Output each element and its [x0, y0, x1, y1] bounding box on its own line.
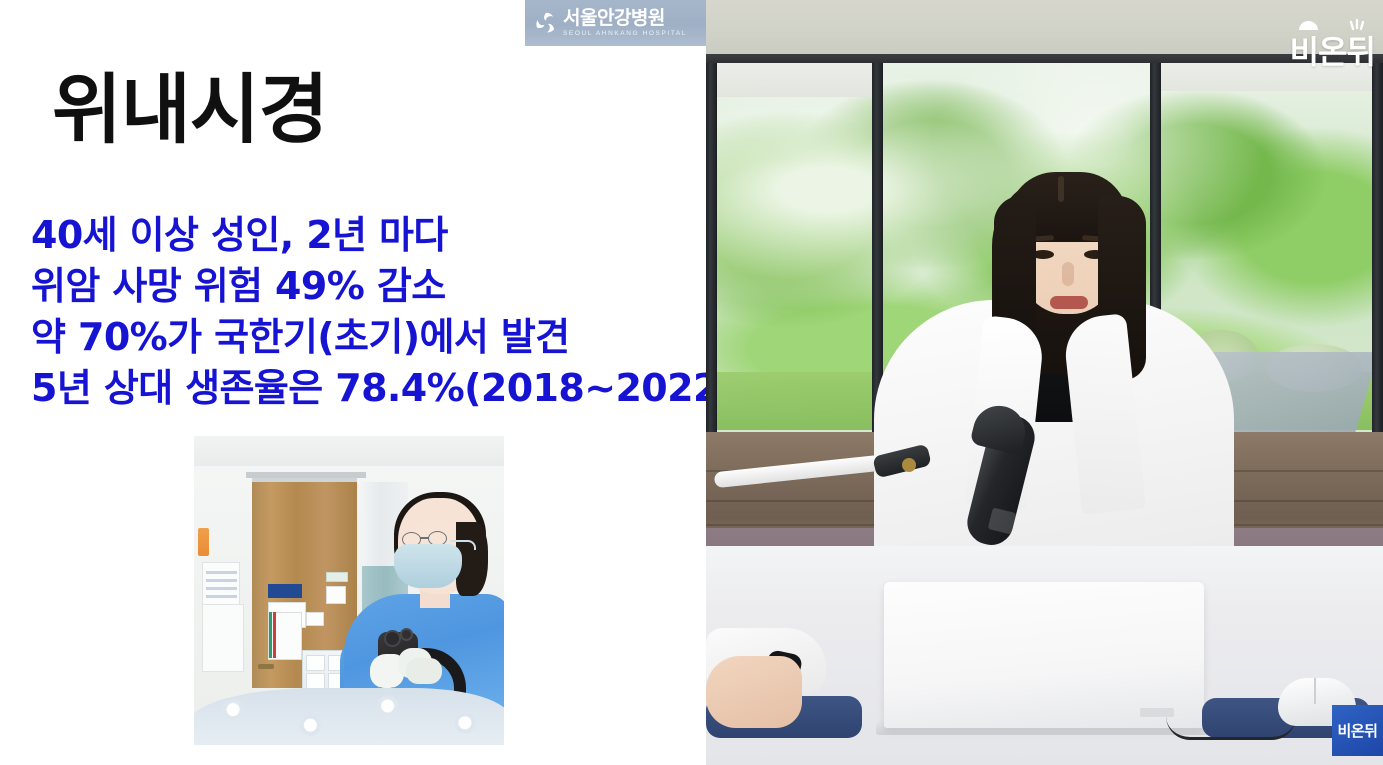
photo-small-sign-2: [326, 586, 346, 604]
video-ceiling: [706, 0, 1383, 58]
video-nose: [1062, 262, 1074, 286]
video-cable: [1166, 716, 1296, 740]
video-mouse-right-seam: [1314, 678, 1316, 704]
hospital-name-kr: 서울안강병원: [563, 9, 687, 28]
bullet-line-4: 5년 상대 생존율은 78.4%(2018~2022년): [31, 363, 691, 414]
video-window-frosted-panel-left: [706, 61, 872, 97]
photo-wall-tag: [198, 528, 209, 556]
hospital-name-en: SEOUL AHNKANG HOSPITAL: [563, 31, 687, 38]
photo-mask-strap: [450, 540, 476, 550]
photo-small-sign-3: [306, 612, 324, 626]
photo-glasses-bridge: [420, 537, 429, 539]
video-mic-thumbscrew: [902, 458, 916, 472]
slide-title: 위내시경: [52, 72, 328, 148]
hospital-logo-banner: 서울안강병원 SEOUL AHNKANG HOSPITAL: [525, 0, 706, 46]
photo-blue-sign: [268, 584, 302, 598]
slide-video-composite: 서울안강병원 SEOUL AHNKANG HOSPITAL 위내시경 40세 이…: [0, 0, 1383, 765]
endoscopy-room-photo: [194, 436, 504, 745]
video-usb-connector: [1140, 708, 1174, 717]
bullet-line-2: 위암 사망 위험 49% 감소: [31, 261, 691, 312]
bullet-line-1: 40세 이상 성인, 2년 마다: [31, 210, 691, 261]
photo-small-sign-1: [326, 572, 348, 582]
photo-endoscope-knob-small: [400, 628, 413, 641]
photo-notice-red-bar: [273, 612, 276, 658]
speaker-video-feed: 비온뒤: [706, 0, 1383, 765]
video-window-frosted-panel-right: [1161, 61, 1372, 91]
photo-notice-green-bar: [269, 612, 272, 658]
photo-endoscope-knob-large: [384, 630, 401, 647]
photo-patient-bed-blanket: [194, 688, 504, 745]
slide-bullet-list: 40세 이상 성인, 2년 마다 위암 사망 위험 49% 감소 약 70%가 …: [31, 210, 691, 414]
video-hand-on-mouse: [706, 656, 802, 728]
photo-door-handle: [258, 664, 274, 669]
video-mouth: [1050, 296, 1088, 309]
slide-panel: 서울안강병원 SEOUL AHNKANG HOSPITAL 위내시경 40세 이…: [0, 0, 706, 765]
video-hair-part: [1058, 176, 1064, 202]
photo-wall-notice-2: [202, 604, 244, 672]
hospital-logo-text: 서울안강병원 SEOUL AHNKANG HOSPITAL: [563, 9, 687, 38]
video-ceiling-beam: [706, 54, 1383, 63]
watermark-bottom-right: 비온뒤: [1332, 705, 1383, 756]
video-window-mullion-1: [706, 61, 717, 439]
video-white-laptop: [884, 582, 1204, 728]
photo-surgical-mask: [394, 544, 462, 588]
video-window-mullion-4: [1372, 61, 1383, 439]
ahnkang-swirl-icon: [533, 10, 559, 36]
watermark-bottom-text: 비온뒤: [1338, 720, 1378, 741]
photo-glove-fingers: [406, 658, 442, 684]
bullet-line-3: 약 70%가 국한기(초기)에서 발견: [31, 312, 691, 363]
